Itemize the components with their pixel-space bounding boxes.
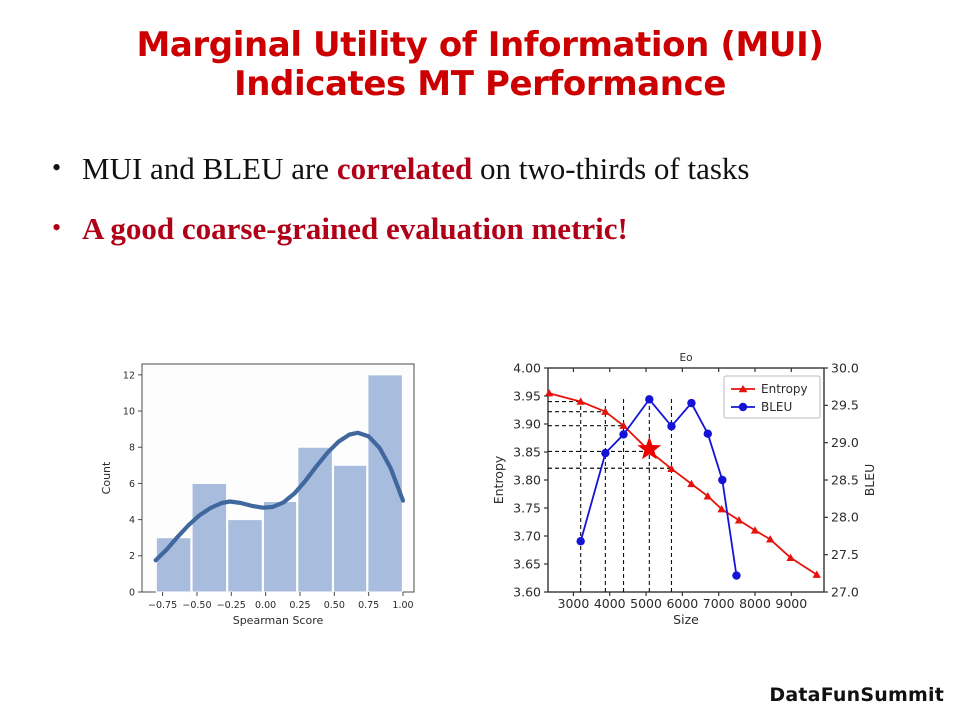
y-tick-label-right: 28.5 (831, 472, 859, 487)
y-tick-label: 4 (129, 515, 135, 526)
data-point-bleu (704, 430, 712, 438)
y-tick-label-left: 3.90 (513, 416, 541, 431)
y-tick-label: 12 (123, 370, 135, 381)
y-tick-label-left: 3.80 (513, 472, 541, 487)
x-tick-label: 5000 (630, 596, 662, 611)
list-item: • A good coarse-grained evaluation metri… (52, 210, 932, 248)
legend-label-entropy: Entropy (761, 382, 808, 396)
spearman-histogram-chart: −0.75−0.50−0.250.000.250.500.751.0002468… (96, 350, 426, 640)
eo-entropy-bleu-chart: 30004000500060007000800090003.603.653.70… (486, 344, 886, 644)
x-tick-label: −0.25 (217, 600, 246, 611)
datafunsummit-logo: DataFunSummit (769, 684, 944, 706)
bullet-text-2: A good coarse-grained evaluation metric! (82, 210, 932, 248)
histogram-bar (192, 483, 227, 592)
title-line-2: Indicates MT Performance (60, 65, 900, 104)
title-line-1: Marginal Utility of Information (MUI) (136, 25, 823, 65)
bullet-glyph-icon: • (52, 150, 82, 186)
x-tick-label: 9000 (775, 596, 807, 611)
data-point-bleu (576, 537, 584, 545)
charts-row: −0.75−0.50−0.250.000.250.500.751.0002468… (0, 344, 960, 644)
y-tick-label-left: 3.60 (513, 584, 541, 599)
x-tick-label: 0.25 (289, 600, 310, 611)
y-tick-label-right: 28.0 (831, 510, 859, 525)
y-tick-label-right: 27.0 (831, 584, 859, 599)
histogram-bar (263, 502, 296, 592)
x-tick-label: 7000 (703, 596, 735, 611)
bullet-text-1: MUI and BLEU are correlated on two-third… (82, 150, 932, 188)
bullet-list: • MUI and BLEU are correlated on two-thi… (52, 150, 932, 262)
legend-marker-bleu (739, 403, 747, 411)
list-item: • MUI and BLEU are correlated on two-thi… (52, 150, 932, 188)
y-axis-label-right: BLEU (862, 464, 877, 497)
y-tick-label-left: 4.00 (513, 360, 541, 375)
data-point-bleu (645, 395, 653, 403)
x-tick-label: 0.50 (324, 600, 345, 611)
x-tick-label: 0.00 (255, 600, 276, 611)
y-tick-label: 10 (123, 406, 135, 417)
y-tick-label-right: 29.5 (831, 398, 859, 413)
x-tick-label: 4000 (594, 596, 626, 611)
histogram-bar (228, 520, 263, 592)
y-tick-label-right: 27.5 (831, 547, 859, 562)
bullet-1-post: on two-thirds of tasks (472, 151, 749, 186)
x-tick-label: 6000 (666, 596, 698, 611)
y-tick-label-left: 3.65 (513, 556, 541, 571)
data-point-bleu (687, 399, 695, 407)
y-axis-label: Count (100, 461, 113, 494)
x-axis-label: Spearman Score (233, 614, 324, 627)
data-point-bleu (718, 476, 726, 484)
y-tick-label: 2 (129, 551, 135, 562)
histogram-bar (334, 465, 367, 592)
x-tick-label: −0.50 (182, 600, 211, 611)
legend-label-bleu: BLEU (761, 400, 792, 414)
x-axis-label: Size (673, 612, 699, 627)
y-tick-label-left: 3.85 (513, 444, 541, 459)
x-tick-label: 1.00 (392, 600, 413, 611)
x-tick-label: 8000 (739, 596, 771, 611)
x-tick-label: −0.75 (148, 600, 177, 611)
y-tick-label: 6 (129, 479, 135, 490)
y-tick-label-left: 3.75 (513, 500, 541, 515)
bullet-1-emphasis: correlated (337, 151, 472, 186)
chart-title: Eo (679, 352, 692, 364)
line-chart-svg: 30004000500060007000800090003.603.653.70… (486, 344, 886, 644)
y-tick-label-right: 30.0 (831, 360, 859, 375)
data-point-bleu (619, 430, 627, 438)
y-tick-label-right: 29.0 (831, 435, 859, 450)
x-tick-label: 3000 (558, 596, 590, 611)
page-title: Marginal Utility of Information (MUI) In… (60, 26, 900, 105)
x-tick-label: 0.75 (358, 600, 379, 611)
y-axis-label-left: Entropy (491, 455, 506, 504)
bullet-1-pre: MUI and BLEU are (82, 151, 337, 186)
y-tick-label-left: 3.95 (513, 388, 541, 403)
bullet-glyph-icon: • (52, 210, 82, 246)
histogram-svg: −0.75−0.50−0.250.000.250.500.751.0002468… (96, 350, 426, 640)
y-tick-label: 8 (129, 443, 135, 454)
slide-root: Marginal Utility of Information (MUI) In… (0, 0, 960, 720)
data-point-bleu (667, 422, 675, 430)
histogram-bar (156, 538, 191, 592)
data-point-bleu (732, 571, 740, 579)
y-tick-label: 0 (129, 587, 135, 598)
data-point-bleu (601, 449, 609, 457)
y-tick-label-left: 3.70 (513, 528, 541, 543)
